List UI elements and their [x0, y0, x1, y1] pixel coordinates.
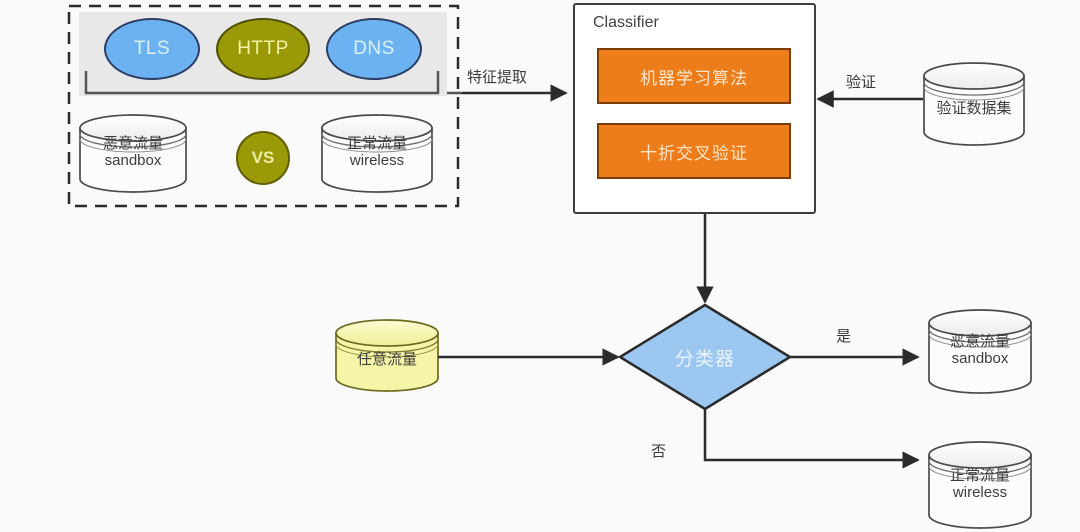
edge-no	[705, 409, 918, 460]
edge-label-validation: 验证	[846, 71, 876, 92]
classifier-container	[573, 3, 816, 214]
edge-label-feature-extraction: 特征提取	[467, 66, 527, 87]
protocol-node-http[interactable]: HTTP	[216, 18, 310, 80]
cylinder-normal-output	[929, 442, 1031, 528]
classifier-module-label: 机器学习算法	[640, 64, 748, 89]
cylinder-validation-dataset	[924, 63, 1024, 145]
protocol-node-dns[interactable]: DNS	[326, 18, 422, 80]
classifier-module-ml-algorithm[interactable]: 机器学习算法	[597, 48, 791, 104]
cylinder-malicious-output	[929, 310, 1031, 393]
classifier-module-label: 十折交叉验证	[640, 139, 748, 164]
cylinder-arbitrary-traffic	[336, 320, 438, 391]
vs-label: VS	[252, 148, 275, 168]
cylinder-malicious-training	[80, 115, 186, 192]
protocol-label: HTTP	[237, 38, 289, 60]
protocol-label: DNS	[353, 38, 395, 60]
protocol-label: TLS	[134, 38, 170, 60]
edge-label-yes: 是	[836, 325, 851, 346]
classifier-title: Classifier	[593, 14, 659, 32]
diagram-vector-layer	[0, 0, 1080, 532]
cylinder-normal-training	[322, 115, 432, 192]
classifier-module-cross-validation[interactable]: 十折交叉验证	[597, 123, 791, 179]
edge-label-no: 否	[651, 440, 666, 461]
decision-label: 分类器	[648, 344, 762, 371]
protocol-node-tls[interactable]: TLS	[104, 18, 200, 80]
vs-badge: VS	[236, 131, 290, 185]
diagram-canvas: TLS HTTP DNS VS 恶意流量 sandbox 正常流量 wirele…	[0, 0, 1080, 532]
